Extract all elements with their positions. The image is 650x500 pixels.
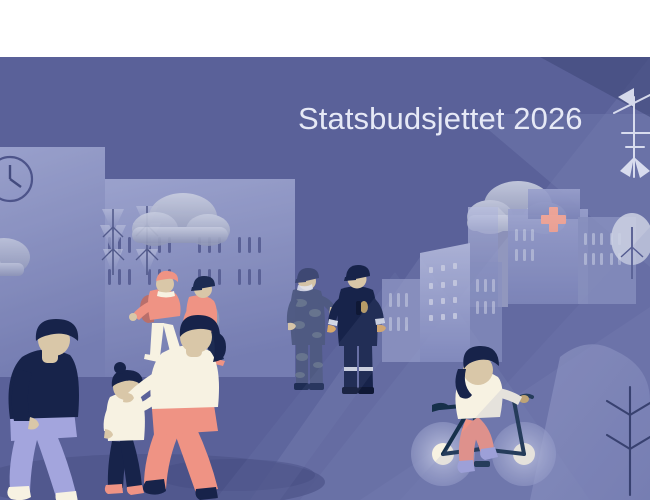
illustration-banner: Statsbudsjettet 2026 [0, 0, 650, 500]
page-title: Statsbudsjettet 2026 [298, 101, 583, 137]
top-white-band [0, 0, 650, 57]
